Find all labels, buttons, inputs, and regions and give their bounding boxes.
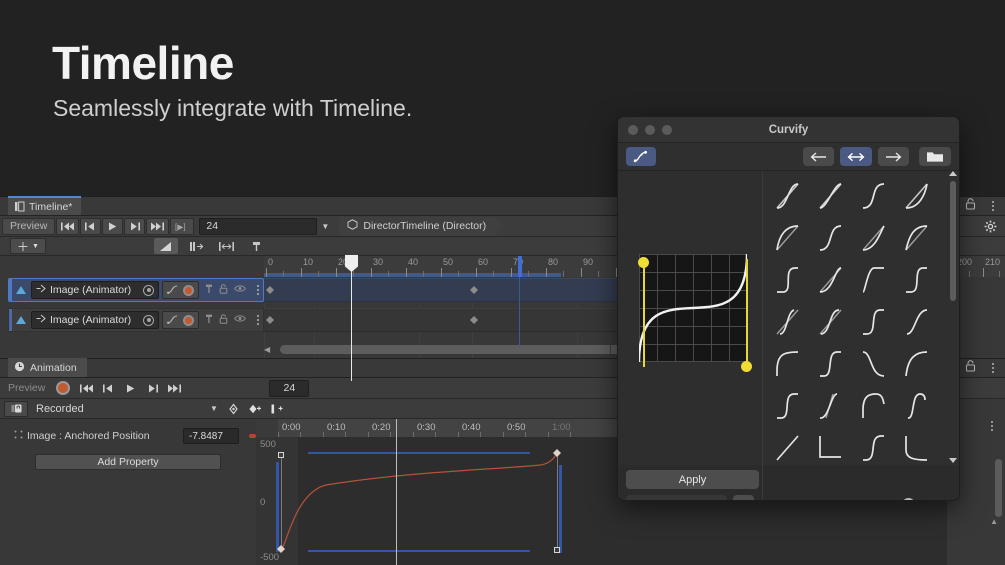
bezier-value-row: 0.00, 0.97, 1.00, 0.02 ★ xyxy=(626,495,754,501)
scroll-up-icon[interactable]: ▲ xyxy=(990,517,998,526)
drag-handle-icon[interactable] xyxy=(14,430,23,442)
track-record-group xyxy=(162,281,199,299)
insert-icon[interactable] xyxy=(184,238,208,254)
bezier-handle-dot-end[interactable] xyxy=(741,361,752,372)
track-flags-group xyxy=(202,311,249,329)
kebab-menu-icon[interactable] xyxy=(988,363,998,373)
folder-icon[interactable] xyxy=(919,147,951,166)
gear-icon[interactable] xyxy=(984,220,997,236)
curve-pen-icon[interactable] xyxy=(626,147,656,166)
curvify-footer-right xyxy=(763,465,959,501)
animation-frame-input[interactable]: 24 xyxy=(269,380,309,397)
preset-curve[interactable] xyxy=(767,175,810,217)
curve-icon[interactable] xyxy=(167,311,179,329)
preset-curve[interactable] xyxy=(767,385,810,427)
scrollbar-thumb[interactable] xyxy=(995,459,1002,517)
arrow-left-icon[interactable] xyxy=(803,147,834,166)
property-label: Image : Anchored Position xyxy=(27,430,150,442)
preset-curve[interactable] xyxy=(810,385,853,427)
trim-icon[interactable] xyxy=(214,238,238,254)
add-marker-icon[interactable] xyxy=(266,401,288,417)
breadcrumb-label: DirectorTimeline (Director) xyxy=(363,220,486,232)
visibility-eye-icon[interactable] xyxy=(234,284,246,296)
preset-curve[interactable] xyxy=(896,427,939,465)
clip-selector[interactable]: Recorded xyxy=(36,403,206,415)
preset-curve[interactable] xyxy=(853,385,896,427)
curvify-nav-group xyxy=(797,147,951,166)
record-icon[interactable] xyxy=(183,285,194,296)
plus-icon: ＋ xyxy=(17,238,29,255)
tab-animation[interactable]: Animation xyxy=(8,358,87,377)
track-label: Image (Animator) xyxy=(50,284,139,296)
marker-icon[interactable] xyxy=(244,238,268,254)
preset-curve[interactable] xyxy=(767,301,810,343)
bezier-handle-dot-start[interactable] xyxy=(638,257,649,268)
curvify-toolbar xyxy=(618,143,959,171)
timeline-icon xyxy=(14,201,25,212)
record-icon[interactable] xyxy=(183,315,194,326)
breadcrumb[interactable]: DirectorTimeline (Director) xyxy=(339,217,504,236)
property-value-field[interactable]: -7.8487 xyxy=(183,428,239,444)
property-name-group: Image : Anchored Position xyxy=(14,430,183,442)
track-lane-right[interactable] xyxy=(955,308,1005,332)
apply-button[interactable]: Apply xyxy=(626,470,759,489)
tab-animation-label: Animation xyxy=(30,362,77,374)
preset-curve[interactable] xyxy=(810,175,853,217)
skip-to-start-icon[interactable] xyxy=(75,380,97,397)
chevron-down-icon: ▼ xyxy=(32,243,39,250)
keyframe-indicator[interactable] xyxy=(249,434,256,438)
timeline-end-marker[interactable] xyxy=(518,256,522,277)
timeline-ruler-right[interactable]: 200 210 xyxy=(955,256,1005,277)
animation-tabbar-right xyxy=(965,358,1005,377)
curvify-titlebar[interactable]: Curvify xyxy=(618,117,959,143)
next-frame-icon[interactable] xyxy=(124,218,145,235)
add-keyframe-icon[interactable] xyxy=(222,401,244,417)
zoom-slider-knob[interactable] xyxy=(902,498,915,501)
curvify-title: Curvify xyxy=(618,124,959,136)
preset-curve[interactable] xyxy=(810,301,853,343)
keyframe-handle[interactable] xyxy=(554,547,560,553)
track-lane-right[interactable] xyxy=(955,278,1005,302)
play-icon[interactable] xyxy=(102,218,123,235)
keyframe-glyph-icon xyxy=(36,284,46,296)
record-icon[interactable] xyxy=(56,381,70,395)
preset-curve[interactable] xyxy=(810,343,853,385)
preset-curve[interactable] xyxy=(896,259,939,301)
preset-curve[interactable] xyxy=(767,259,810,301)
preset-curve[interactable] xyxy=(810,427,853,465)
preset-curve[interactable] xyxy=(896,301,939,343)
timeline-asset-icon xyxy=(347,219,358,233)
tab-timeline-label: Timeline* xyxy=(29,201,72,213)
scrollbar-thumb[interactable] xyxy=(950,181,956,301)
preset-curve[interactable] xyxy=(853,427,896,465)
animator-track-icon xyxy=(16,316,26,324)
preset-curve[interactable] xyxy=(896,343,939,385)
chevron-down-icon[interactable]: ▼ xyxy=(317,218,333,235)
preset-curve[interactable] xyxy=(853,175,896,217)
preset-curve[interactable] xyxy=(896,385,939,427)
lock-icon[interactable] xyxy=(965,197,976,215)
curvify-footer: Apply 0.00, 0.97, 1.00, 0.02 ★ xyxy=(618,465,959,501)
tab-timeline[interactable]: Timeline* xyxy=(8,196,81,215)
skip-to-end-icon[interactable] xyxy=(163,380,185,397)
animation-preview-button[interactable]: Preview xyxy=(2,380,51,397)
add-property-button[interactable]: Add Property xyxy=(35,454,221,470)
preset-curve[interactable] xyxy=(810,259,853,301)
page-title: Timeline xyxy=(52,36,234,90)
preset-curve[interactable] xyxy=(896,175,939,217)
bezier-handle-line-start[interactable] xyxy=(643,261,645,367)
preview-button[interactable]: Preview xyxy=(2,218,55,235)
next-key-icon[interactable] xyxy=(141,380,163,397)
skip-to-start-icon[interactable] xyxy=(56,218,79,235)
kebab-menu-icon[interactable] xyxy=(987,421,997,431)
page-subtitle: Seamlessly integrate with Timeline. xyxy=(53,95,412,122)
animator-track-icon xyxy=(16,286,26,294)
track-row[interactable]: Image (Animator) xyxy=(8,278,264,302)
presets-scrollbar[interactable] xyxy=(950,175,956,461)
curve-icon[interactable] xyxy=(167,281,179,299)
scroll-left-icon[interactable]: ◀ xyxy=(264,345,270,354)
ripple-icon[interactable] xyxy=(154,238,178,254)
preset-curve[interactable] xyxy=(767,427,810,465)
clip-selector-label: Recorded xyxy=(36,403,84,415)
animation-property-panel: Image : Anchored Position -7.8487 Add Pr… xyxy=(0,419,256,565)
track-tool-group xyxy=(154,238,268,254)
app-root: Timeline Seamlessly integrate with Timel… xyxy=(0,0,1005,565)
curvify-editor-panel xyxy=(618,171,763,465)
arrow-both-icon[interactable] xyxy=(840,147,872,166)
chevron-down-icon[interactable]: ▼ xyxy=(206,400,222,417)
preset-curve[interactable] xyxy=(767,343,810,385)
track-name-field[interactable]: Image (Animator) xyxy=(31,311,159,329)
track-flags-group xyxy=(202,281,249,299)
preset-curve[interactable] xyxy=(853,259,896,301)
kebab-menu-icon[interactable] xyxy=(253,285,263,295)
arrow-right-icon[interactable] xyxy=(878,147,909,166)
bezier-value-field[interactable]: 0.00, 0.97, 1.00, 0.02 xyxy=(626,495,727,501)
bezier-grid xyxy=(639,254,747,362)
star-icon[interactable]: ★ xyxy=(733,495,754,501)
track-name-field[interactable]: Image (Animator) xyxy=(31,281,159,299)
clip-lock-icon[interactable] xyxy=(4,401,28,417)
play-icon[interactable] xyxy=(119,380,141,397)
track-record-group xyxy=(162,311,199,329)
target-icon[interactable] xyxy=(143,315,154,326)
track-label: Image (Animator) xyxy=(50,314,139,326)
prev-frame-icon[interactable] xyxy=(80,218,101,235)
skip-to-end-icon[interactable] xyxy=(146,218,169,235)
kebab-menu-icon[interactable] xyxy=(988,201,998,211)
svg-text:[▶]: [▶] xyxy=(175,222,186,231)
add-track-button[interactable]: ＋ ▼ xyxy=(10,238,46,254)
keyframe-glyph-icon xyxy=(36,314,46,326)
preset-curve[interactable] xyxy=(810,217,853,259)
bezier-curve xyxy=(639,254,747,362)
pin-icon[interactable] xyxy=(205,284,213,297)
property-row[interactable]: Image : Anchored Position -7.8487 xyxy=(0,427,256,445)
preset-curve[interactable] xyxy=(896,217,939,259)
keyframe-handle[interactable] xyxy=(278,452,284,458)
animation-clock-icon xyxy=(14,361,25,375)
kebab-menu-icon[interactable] xyxy=(253,315,263,325)
lock-icon[interactable] xyxy=(219,314,228,327)
curvify-body xyxy=(618,171,959,465)
lock-icon[interactable] xyxy=(219,284,228,297)
curvify-footer-left: Apply 0.00, 0.97, 1.00, 0.02 ★ xyxy=(618,465,763,501)
timeline-tabbar-right xyxy=(965,196,1005,215)
prev-key-icon[interactable] xyxy=(97,380,119,397)
bezier-editor[interactable] xyxy=(626,251,754,376)
pin-icon[interactable] xyxy=(205,314,213,327)
bezier-handle-line-end[interactable] xyxy=(746,259,748,365)
target-icon[interactable] xyxy=(143,285,154,296)
preset-curve[interactable] xyxy=(853,217,896,259)
frame-input[interactable]: 24 xyxy=(199,218,317,235)
curvify-presets-panel[interactable] xyxy=(763,171,959,465)
play-range-icon[interactable]: [▶] xyxy=(170,218,194,235)
visibility-eye-icon[interactable] xyxy=(234,314,246,326)
curvify-window: Curvify xyxy=(617,116,960,501)
preset-curve[interactable] xyxy=(853,301,896,343)
track-row[interactable]: Image (Animator) xyxy=(8,308,264,332)
preset-curve[interactable] xyxy=(853,343,896,385)
lock-icon[interactable] xyxy=(965,359,976,377)
add-event-icon[interactable] xyxy=(244,401,266,417)
preset-curve[interactable] xyxy=(767,217,810,259)
preset-grid xyxy=(767,175,939,465)
